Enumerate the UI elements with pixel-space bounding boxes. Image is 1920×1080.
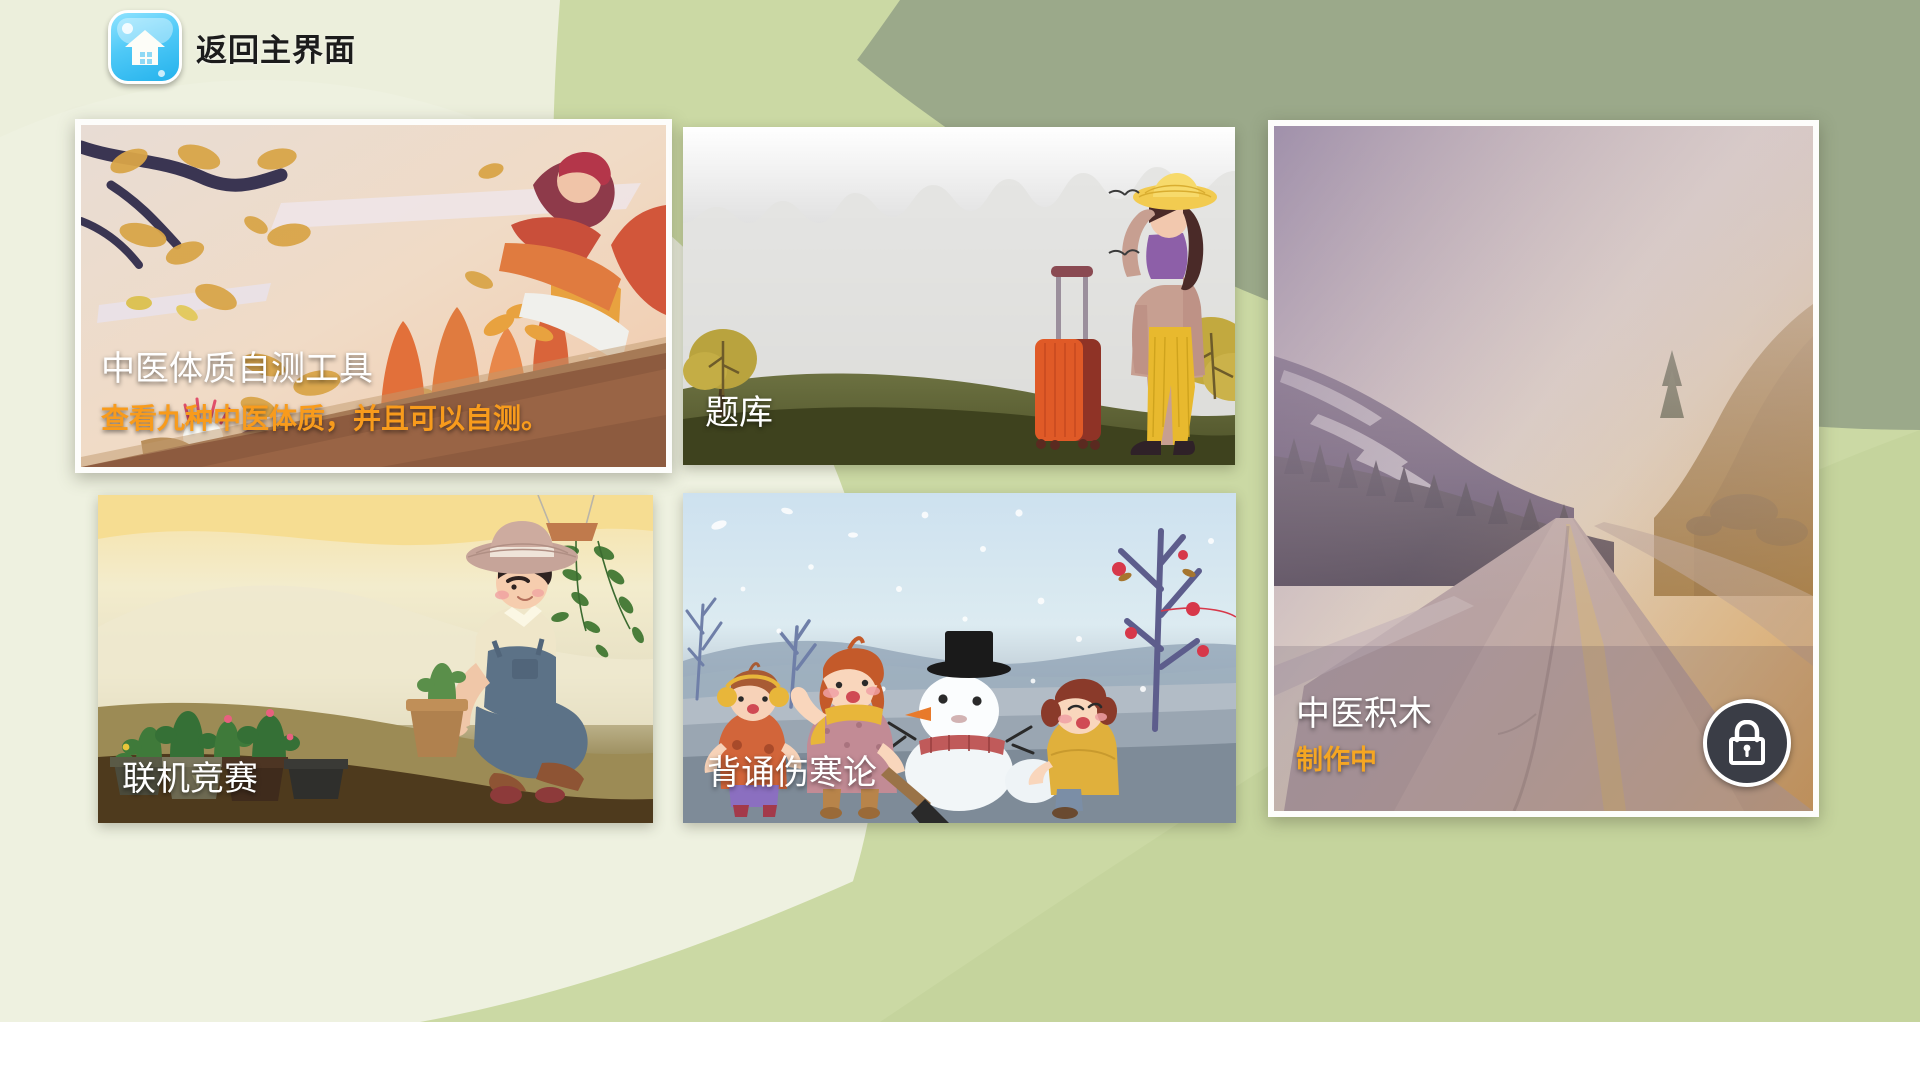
card-tcm-blocks[interactable]: 中医积木 制作中 xyxy=(1268,120,1819,817)
home-icon[interactable] xyxy=(108,10,182,84)
card-tcm-test[interactable]: 中医体质自测工具 查看九种中医体质，并且可以自测。 xyxy=(75,119,672,473)
card-subtitle-tcm-blocks: 制作中 xyxy=(1296,738,1377,777)
back-to-home-label: 返回主界面 xyxy=(196,25,356,70)
bottom-strip xyxy=(0,1022,1920,1080)
card-title-recite-shanghanlun: 背诵伤寒论 xyxy=(707,745,877,794)
card-title-question-bank: 题库 xyxy=(705,385,773,434)
card-title-tcm-blocks: 中医积木 xyxy=(1296,686,1432,735)
back-to-home-button[interactable]: 返回主界面 xyxy=(108,10,356,84)
card-subtitle-tcm-test: 查看九种中医体质，并且可以自测。 xyxy=(101,397,549,437)
lock-icon xyxy=(1726,720,1768,766)
card-title-online-contest: 联机竞赛 xyxy=(122,751,258,800)
icon-highlight-small xyxy=(158,70,165,77)
card-title-tcm-test: 中医体质自测工具 xyxy=(101,341,373,390)
house-glyph xyxy=(123,28,167,68)
lock-badge xyxy=(1703,699,1791,787)
card-recite-shanghanlun[interactable]: 背诵伤寒论 xyxy=(683,493,1236,823)
card-question-bank[interactable]: 题库 xyxy=(683,127,1235,465)
card-online-contest[interactable]: 联机竞赛 xyxy=(98,495,653,823)
